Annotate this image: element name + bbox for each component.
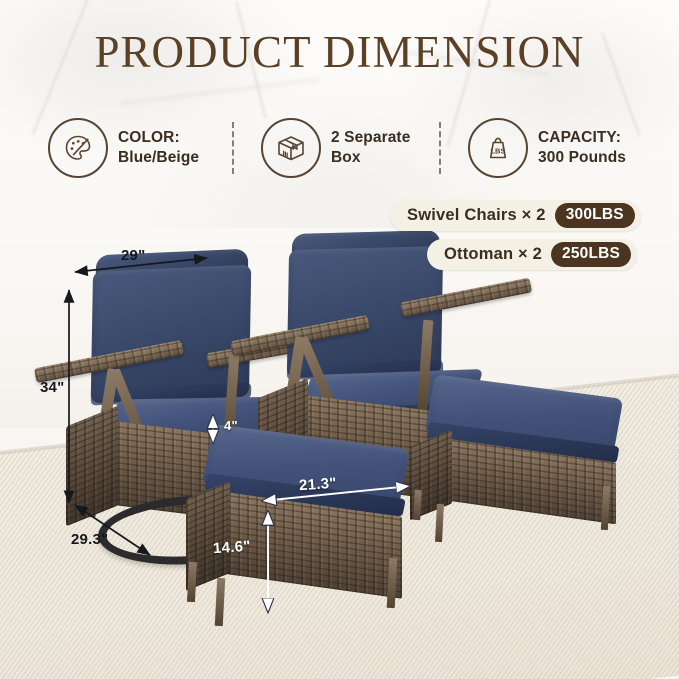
dim-label-ottoman-width: 21.3" (298, 475, 337, 495)
dim-label-chair-width: 29" (121, 247, 145, 264)
dim-label-chair-height: 34" (40, 379, 64, 396)
dim-label-chair-depth: 29.3" (71, 531, 108, 548)
feature-box-text: 2 Separate Box (331, 128, 410, 168)
chair-left-base-side (66, 405, 118, 526)
ottoman-front-leg-1 (215, 578, 226, 626)
feature-box-line1: 2 Separate (331, 129, 410, 146)
feature-color-text: COLOR: Blue/Beige (118, 128, 199, 168)
dim-label-seat-thickness: 4" (224, 418, 238, 433)
badge-swivel-chairs-label: Swivel Chairs × 2 (407, 206, 546, 225)
feature-color-line1: COLOR: (118, 129, 180, 146)
feature-capacity: LBS CAPACITY: 300 Pounds (468, 118, 626, 178)
badge-swivel-chairs: Swivel Chairs × 2 300LBS (390, 200, 641, 231)
product-dimension-infographic: PRODUCT DIMENSION COLOR: Blue/Beige (0, 0, 679, 679)
weight-lbs-icon: LBS (468, 118, 528, 178)
feature-color-line2: Blue/Beige (118, 148, 199, 168)
weight-icon-label: LBS (490, 146, 505, 155)
badge-swivel-chairs-capacity: 300LBS (555, 203, 635, 228)
feature-capacity-text: CAPACITY: 300 Pounds (538, 128, 626, 168)
feature-box-line2: Box (331, 148, 410, 168)
product-scene (0, 228, 679, 679)
feature-divider-1 (232, 122, 234, 174)
feature-capacity-line1: CAPACITY: (538, 129, 621, 146)
feature-color: COLOR: Blue/Beige (48, 118, 199, 178)
box-icon (261, 118, 321, 178)
ottoman-right (412, 386, 632, 586)
badge-ottoman-capacity: 250LBS (551, 242, 631, 267)
badge-ottoman: Ottoman × 2 250LBS (427, 239, 637, 270)
dim-label-ottoman-height: 14.6" (212, 538, 251, 558)
ottoman-front-leg-2 (387, 558, 398, 608)
feature-divider-2 (439, 122, 441, 174)
feature-box: 2 Separate Box (261, 118, 410, 178)
badge-ottoman-label: Ottoman × 2 (444, 245, 542, 264)
feature-capacity-line2: 300 Pounds (538, 148, 626, 168)
ottoman-right-leg-2 (601, 486, 610, 530)
ottoman-front-leg-3 (187, 562, 197, 602)
feature-row: COLOR: Blue/Beige 2 Separate Box (46, 112, 646, 184)
page-title: PRODUCT DIMENSION (0, 26, 679, 78)
palette-icon (48, 118, 108, 178)
